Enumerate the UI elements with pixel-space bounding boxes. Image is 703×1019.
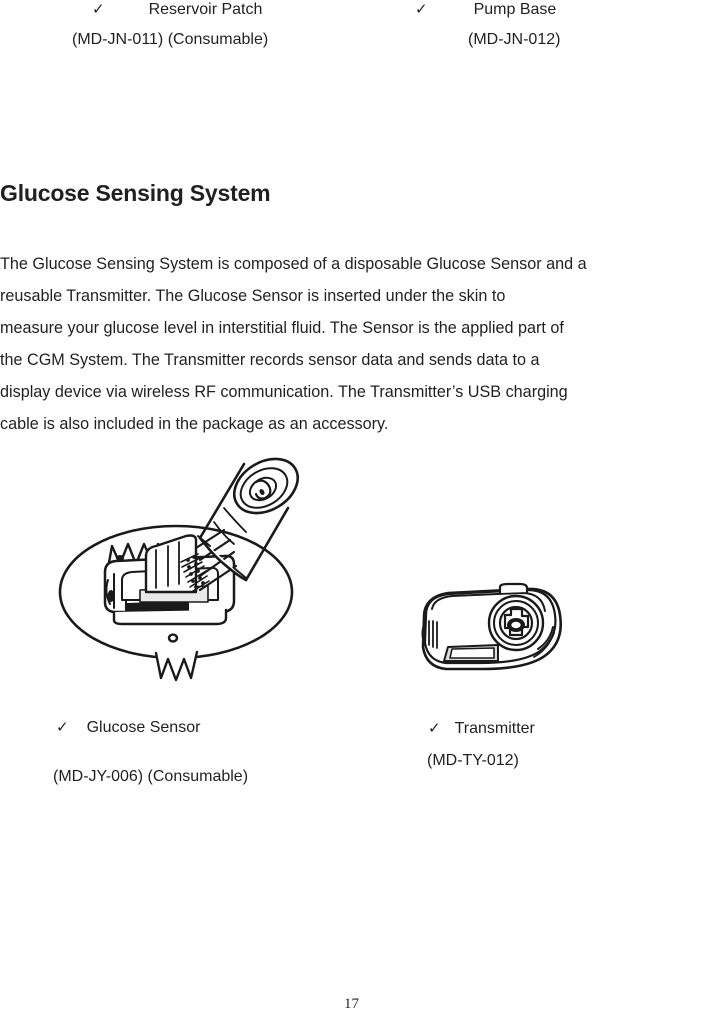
glucose-sensor-applicator-illustration [48, 452, 310, 688]
caption-reservoir-patch: ✓ Reservoir Patch [92, 0, 262, 20]
caption-pump-base-code: (MD-JN-012) [468, 30, 560, 50]
caption-transmitter-code: (MD-TY-012) [427, 751, 519, 771]
caption-reservoir-patch-code: (MD-JN-011) (Consumable) [72, 30, 268, 50]
paragraph-line: measure your glucose level in interstiti… [0, 312, 703, 344]
caption-code: (MD-JN-012) [468, 30, 560, 50]
document-page: ✓ Reservoir Patch (MD-JN-011) (Consumabl… [0, 0, 703, 1019]
caption-code: (MD-TY-012) [427, 751, 519, 771]
caption-glucose-sensor: ✓ Glucose Sensor [56, 718, 200, 738]
section-paragraph: The Glucose Sensing System is composed o… [0, 248, 703, 440]
paragraph-line: cable is also included in the package as… [0, 408, 703, 440]
paragraph-line: The Glucose Sensing System is composed o… [0, 248, 703, 280]
caption-glucose-sensor-code: (MD-JY-006) (Consumable) [53, 767, 248, 787]
checkmark-icon: ✓ [428, 721, 441, 736]
caption-label: Transmitter [455, 719, 535, 739]
caption-label: Glucose Sensor [87, 718, 201, 738]
checkmark-icon: ✓ [415, 2, 428, 17]
section-heading: Glucose Sensing System [0, 179, 270, 207]
checkmark-icon: ✓ [92, 2, 105, 17]
paragraph-line: the CGM System. The Transmitter records … [0, 344, 703, 376]
checkmark-icon: ✓ [56, 720, 69, 735]
caption-pump-base: ✓ Pump Base [415, 0, 556, 20]
page-number: 17 [0, 996, 703, 1013]
caption-code: (MD-JN-011) (Consumable) [72, 30, 268, 50]
paragraph-line: display device via wireless RF communica… [0, 376, 703, 408]
caption-code: (MD-JY-006) (Consumable) [53, 767, 248, 787]
caption-transmitter: ✓ Transmitter [428, 719, 535, 739]
paragraph-line: reusable Transmitter. The Glucose Sensor… [0, 280, 703, 312]
transmitter-illustration [410, 575, 570, 680]
caption-label: Reservoir Patch [149, 0, 263, 20]
caption-label: Pump Base [474, 0, 557, 20]
